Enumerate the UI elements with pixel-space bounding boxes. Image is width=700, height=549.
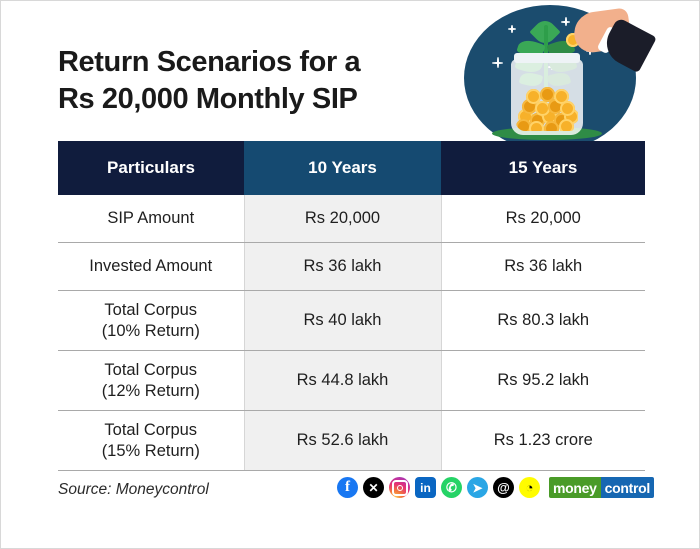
coin-icon	[540, 87, 555, 102]
cell-10-years: Rs 40 lakh	[244, 291, 441, 351]
cell-15-years: Rs 95.2 lakh	[441, 351, 645, 411]
moneycontrol-logo[interactable]: money control	[549, 477, 654, 498]
social-links: f ✕ in ✆ ➤ @ ◔ money control	[337, 477, 654, 498]
coin-icon	[544, 121, 559, 131]
logo-control-text: control	[601, 477, 654, 498]
x-twitter-icon[interactable]: ✕	[363, 477, 384, 498]
facebook-icon[interactable]: f	[337, 477, 358, 498]
return-scenarios-table: Particulars 10 Years 15 Years SIP Amount…	[58, 141, 645, 471]
coin-icon	[529, 121, 544, 131]
column-header-particulars: Particulars	[58, 141, 244, 195]
table-row: Invested Amount Rs 36 lakh Rs 36 lakh	[58, 243, 645, 291]
whatsapp-icon[interactable]: ✆	[441, 477, 462, 498]
coin-icon	[526, 89, 541, 104]
cell-particulars-sub: (12% Return)	[58, 381, 244, 401]
source-attribution: Source: Moneycontrol	[58, 481, 209, 499]
page-title-line-1: Return Scenarios for a	[58, 44, 458, 81]
coin-icon	[559, 119, 574, 131]
cell-10-years: Rs 36 lakh	[244, 243, 441, 291]
sparkle-icon	[492, 57, 503, 68]
cell-particulars-main: Total Corpus	[58, 420, 244, 440]
cell-particulars: Total Corpus (12% Return)	[58, 351, 244, 411]
cell-15-years: Rs 20,000	[441, 195, 645, 243]
sparkle-icon	[561, 17, 570, 26]
cell-particulars: Total Corpus (15% Return)	[58, 411, 244, 471]
instagram-icon[interactable]	[389, 477, 410, 498]
cell-particulars-main: Total Corpus	[58, 300, 244, 320]
cell-particulars-main: SIP Amount	[58, 208, 244, 228]
cell-15-years: Rs 36 lakh	[441, 243, 645, 291]
table-row: Total Corpus (15% Return) Rs 52.6 lakh R…	[58, 411, 645, 471]
logo-money-text: money	[549, 477, 601, 498]
cell-10-years: Rs 52.6 lakh	[244, 411, 441, 471]
jar-lid-icon	[514, 53, 580, 63]
page-title-line-2: Rs 20,000 Monthly SIP	[58, 81, 458, 118]
coin-icon	[554, 89, 569, 104]
instagram-camera-glyph	[392, 480, 408, 496]
table-row: Total Corpus (10% Return) Rs 40 lakh Rs …	[58, 291, 645, 351]
infographic-card: Return Scenarios for a Rs 20,000 Monthly…	[0, 0, 700, 549]
sparkle-icon	[508, 25, 516, 33]
table-header: Particulars 10 Years 15 Years	[58, 141, 645, 195]
cell-15-years: Rs 80.3 lakh	[441, 291, 645, 351]
table-row: Total Corpus (12% Return) Rs 44.8 lakh R…	[58, 351, 645, 411]
table-body: SIP Amount Rs 20,000 Rs 20,000 Invested …	[58, 195, 645, 471]
column-header-15-years: 15 Years	[441, 141, 645, 195]
cell-particulars: SIP Amount	[58, 195, 244, 243]
cell-particulars: Invested Amount	[58, 243, 244, 291]
column-header-10-years: 10 Years	[244, 141, 441, 195]
linkedin-icon[interactable]: in	[415, 477, 436, 498]
table-header-row: Particulars 10 Years 15 Years	[58, 141, 645, 195]
cell-10-years: Rs 44.8 lakh	[244, 351, 441, 411]
cell-particulars-main: Total Corpus	[58, 360, 244, 380]
cell-10-years: Rs 20,000	[244, 195, 441, 243]
snapchat-icon[interactable]: ◔	[519, 477, 540, 498]
telegram-icon[interactable]: ➤	[467, 477, 488, 498]
cell-15-years: Rs 1.23 crore	[441, 411, 645, 471]
page-title: Return Scenarios for a Rs 20,000 Monthly…	[58, 44, 458, 118]
cell-particulars-sub: (10% Return)	[58, 321, 244, 341]
threads-icon[interactable]: @	[493, 477, 514, 498]
coin-pile	[516, 87, 578, 131]
cell-particulars-sub: (15% Return)	[58, 441, 244, 461]
cell-particulars: Total Corpus (10% Return)	[58, 291, 244, 351]
cell-particulars-main: Invested Amount	[58, 256, 244, 276]
table-row: SIP Amount Rs 20,000 Rs 20,000	[58, 195, 645, 243]
savings-jar-illustration	[456, 3, 646, 153]
